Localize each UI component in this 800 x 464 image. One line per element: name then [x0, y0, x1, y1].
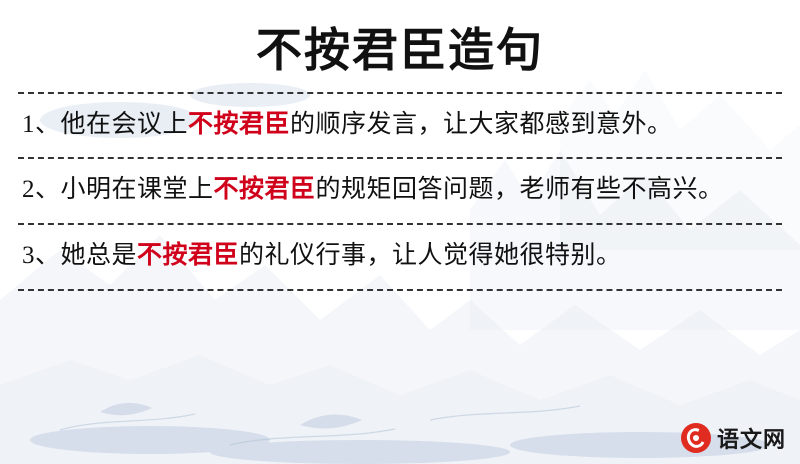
sentence-item-3: 3、她总是不按君臣的礼仪行事，让人觉得她很特别。: [18, 225, 782, 289]
sentence-text-before-3: 她总是: [61, 242, 138, 269]
sentence-text-after-2: 的规矩回答问题，老师有些不高兴。: [316, 176, 724, 203]
sentence-item-1: 1、他在会议上不按君臣的顺序发言，让大家都感到意外。: [18, 94, 782, 158]
watermark-logo: 语文网: [681, 422, 786, 454]
sentence-keyword-2: 不按君臣: [214, 176, 316, 203]
sentence-text-after-3: 的礼仪行事，让人觉得她很特别。: [239, 242, 622, 269]
sentence-text-before-1: 他在会议上: [61, 111, 189, 138]
sentence-index-2: 2、: [22, 176, 61, 203]
page-title: 不按君臣造句: [18, 0, 782, 92]
sentence-text-after-1: 的顺序发言，让大家都感到意外。: [290, 111, 673, 138]
document-page: 不按君臣造句 1、他在会议上不按君臣的顺序发言，让大家都感到意外。 2、小明在课…: [0, 0, 800, 464]
watermark-logo-text: 语文网: [717, 422, 786, 454]
sentence-index-3: 3、: [22, 242, 61, 269]
sentence-keyword-3: 不按君臣: [137, 242, 239, 269]
sentence-text-before-2: 小明在课堂上: [61, 176, 214, 203]
sentence-keyword-1: 不按君臣: [188, 111, 290, 138]
sentence-index-1: 1、: [22, 111, 61, 138]
sentence-item-2: 2、小明在课堂上不按君臣的规矩回答问题，老师有些不高兴。: [18, 159, 782, 223]
divider-4: [18, 289, 782, 291]
yuwen-logo-icon: [681, 423, 711, 453]
